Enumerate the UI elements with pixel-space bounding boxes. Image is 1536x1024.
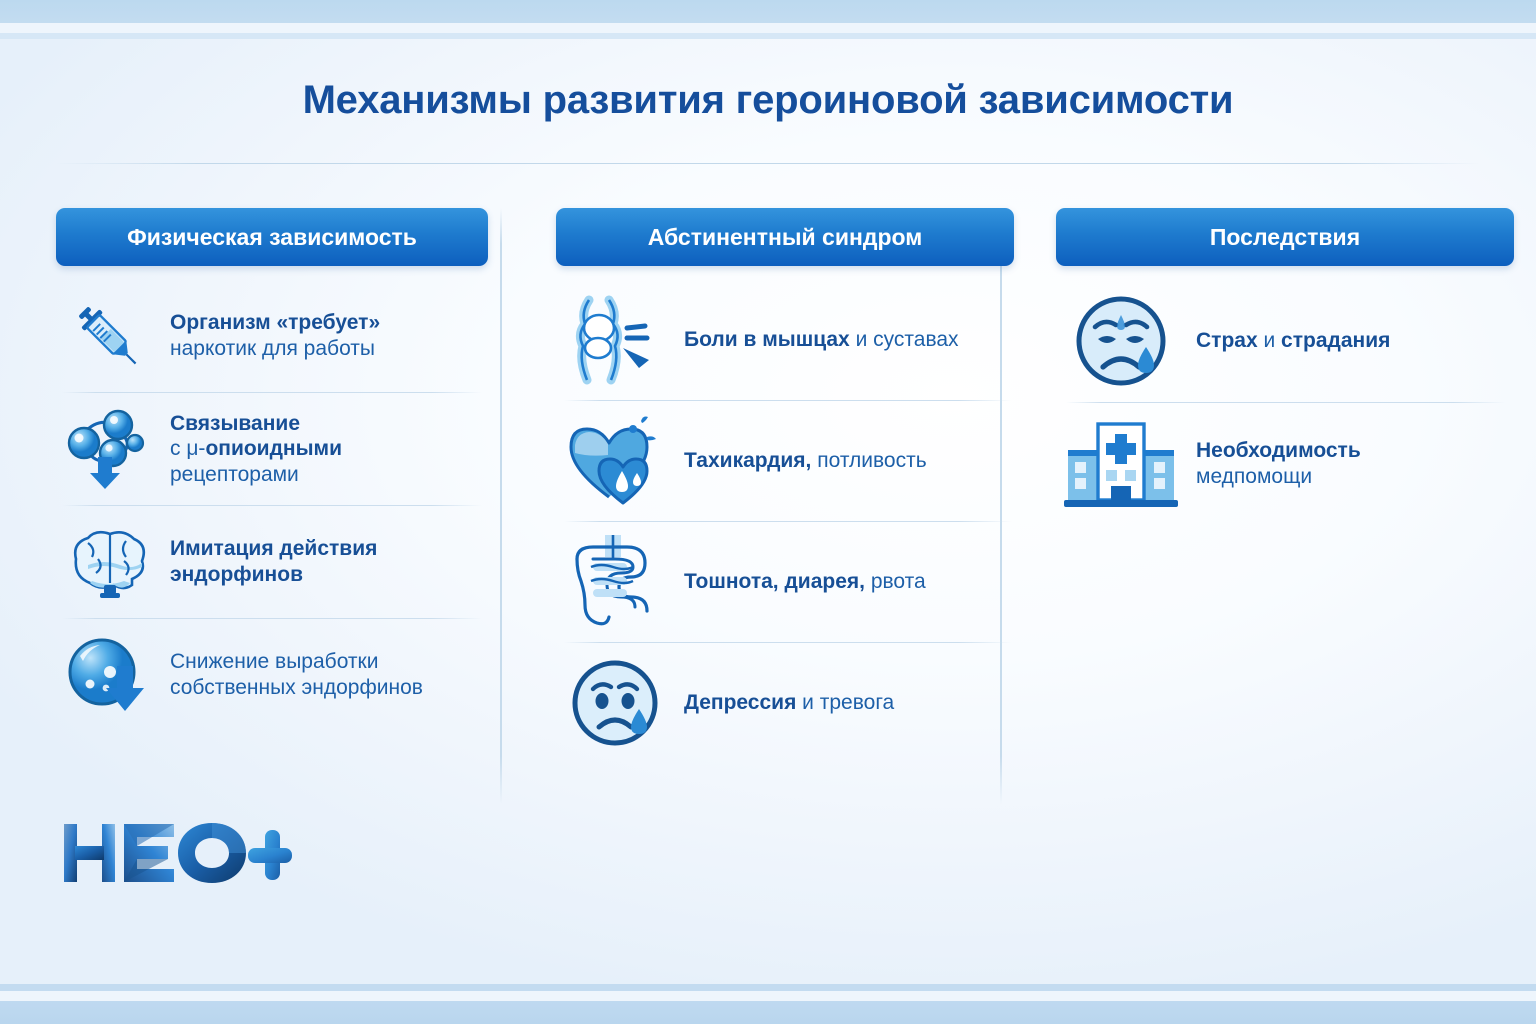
title-divider [56, 163, 1480, 164]
column-withdrawal-syndrome: Абстинентный синдром [556, 208, 1036, 808]
item-line-1: Страх [1196, 329, 1258, 352]
item-line-1-tail: и суставах [850, 328, 959, 351]
item-line-1: Тахикардия, [684, 449, 811, 472]
item-line-3: рецепторами [170, 463, 299, 486]
hospital-icon [1056, 416, 1186, 512]
item-line-2: наркотик для работы [170, 337, 375, 360]
list-item[interactable]: Связывание с μ-опиоидными рецепторами [56, 393, 536, 505]
item-line-1: Имитация действия [170, 537, 377, 560]
page-title: Механизмы развития героиновой зависимост… [0, 78, 1536, 123]
item-line-1: Боли в мышцах [684, 328, 850, 351]
sad-face-tear-icon [556, 655, 674, 751]
column-consequences: Последствия Страх и стра [1056, 208, 1526, 808]
intestines-icon [556, 533, 674, 631]
worried-face-tear-icon [1056, 291, 1186, 391]
column-header-physical-dependence: Физическая зависимость [56, 208, 488, 266]
heart-sweat-icon [556, 415, 674, 507]
item-line-2: опиоидными [205, 437, 342, 460]
list-item[interactable]: Имитация действия эндорфинов [56, 506, 536, 618]
list-item-text: Связывание с μ-опиоидными рецепторами [160, 411, 342, 488]
column-header-consequences: Последствия [1056, 208, 1514, 266]
item-line-1-mid: и [1258, 329, 1281, 352]
brand-logo[interactable] [62, 818, 292, 890]
list-item-text: Снижение выработки собственных эндорфино… [160, 649, 423, 700]
list-item-text: Депрессия и тревога [674, 690, 894, 716]
item-list-consequences: Страх и страдания [1056, 280, 1526, 525]
list-item-text: Боли в мышцах и суставах [674, 327, 959, 353]
bottom-border-band [0, 1001, 1536, 1024]
declining-sphere-icon [56, 632, 160, 718]
item-line-1: Тошнота, диарея, [684, 570, 865, 593]
logo-letter-o [178, 823, 246, 883]
list-item-text: Имитация действия эндорфинов [160, 536, 377, 587]
logo-letter-n [64, 824, 115, 882]
list-item-text: Тахикардия, потливость [674, 448, 927, 474]
item-line-1-tail: и тревога [796, 691, 894, 714]
list-item-text: Страх и страдания [1186, 328, 1390, 354]
list-item[interactable]: Тахикардия, потливость [556, 401, 1036, 521]
list-item[interactable]: Необходимость медпомощи [1056, 403, 1526, 525]
item-line-1: Депрессия [684, 691, 796, 714]
item-line-1: Организм «требует» [170, 311, 380, 334]
top-border-band [0, 0, 1536, 23]
bottom-accent-line [0, 984, 1536, 991]
item-line-2-prefix: с μ- [170, 437, 205, 460]
list-item-text: Необходимость медпомощи [1186, 438, 1361, 489]
item-line-1: Связывание [170, 412, 300, 435]
item-line-1: Необходимость [1196, 439, 1361, 462]
columns-container: Физическая зависимость [0, 208, 1536, 808]
item-line-1-tail: страдания [1281, 329, 1390, 352]
column-header-withdrawal-syndrome: Абстинентный синдром [556, 208, 1014, 266]
list-item[interactable]: Депрессия и тревога [556, 643, 1036, 763]
molecule-receptor-icon [56, 403, 160, 495]
list-item[interactable]: Страх и страдания [1056, 280, 1526, 402]
brain-icon [56, 525, 160, 599]
logo-plus-icon [248, 830, 292, 880]
syringe-icon [56, 293, 160, 379]
item-list-physical-dependence: Организм «требует» наркотик для работы [56, 280, 536, 731]
item-line-2: эндорфинов [170, 563, 303, 586]
column-physical-dependence: Физическая зависимость [56, 208, 536, 808]
list-item[interactable]: Тошнота, диарея, рвота [556, 522, 1036, 642]
list-item-text: Организм «требует» наркотик для работы [160, 310, 380, 361]
list-item-text: Тошнота, диарея, рвота [674, 569, 926, 595]
item-line-2: медпомощи [1196, 465, 1312, 488]
item-list-withdrawal-syndrome: Боли в мышцах и суставах [556, 280, 1036, 763]
item-line-1-tail: рвота [865, 570, 926, 593]
item-line-2: собственных эндорфинов [170, 676, 423, 699]
list-item[interactable]: Боли в мышцах и суставах [556, 280, 1036, 400]
knee-joint-pain-icon [556, 294, 674, 386]
item-line-1: Снижение выработки [170, 650, 378, 673]
logo-letter-e [124, 824, 174, 882]
list-item[interactable]: Снижение выработки собственных эндорфино… [56, 619, 536, 731]
list-item[interactable]: Организм «требует» наркотик для работы [56, 280, 536, 392]
item-line-1-tail: потливость [811, 449, 926, 472]
